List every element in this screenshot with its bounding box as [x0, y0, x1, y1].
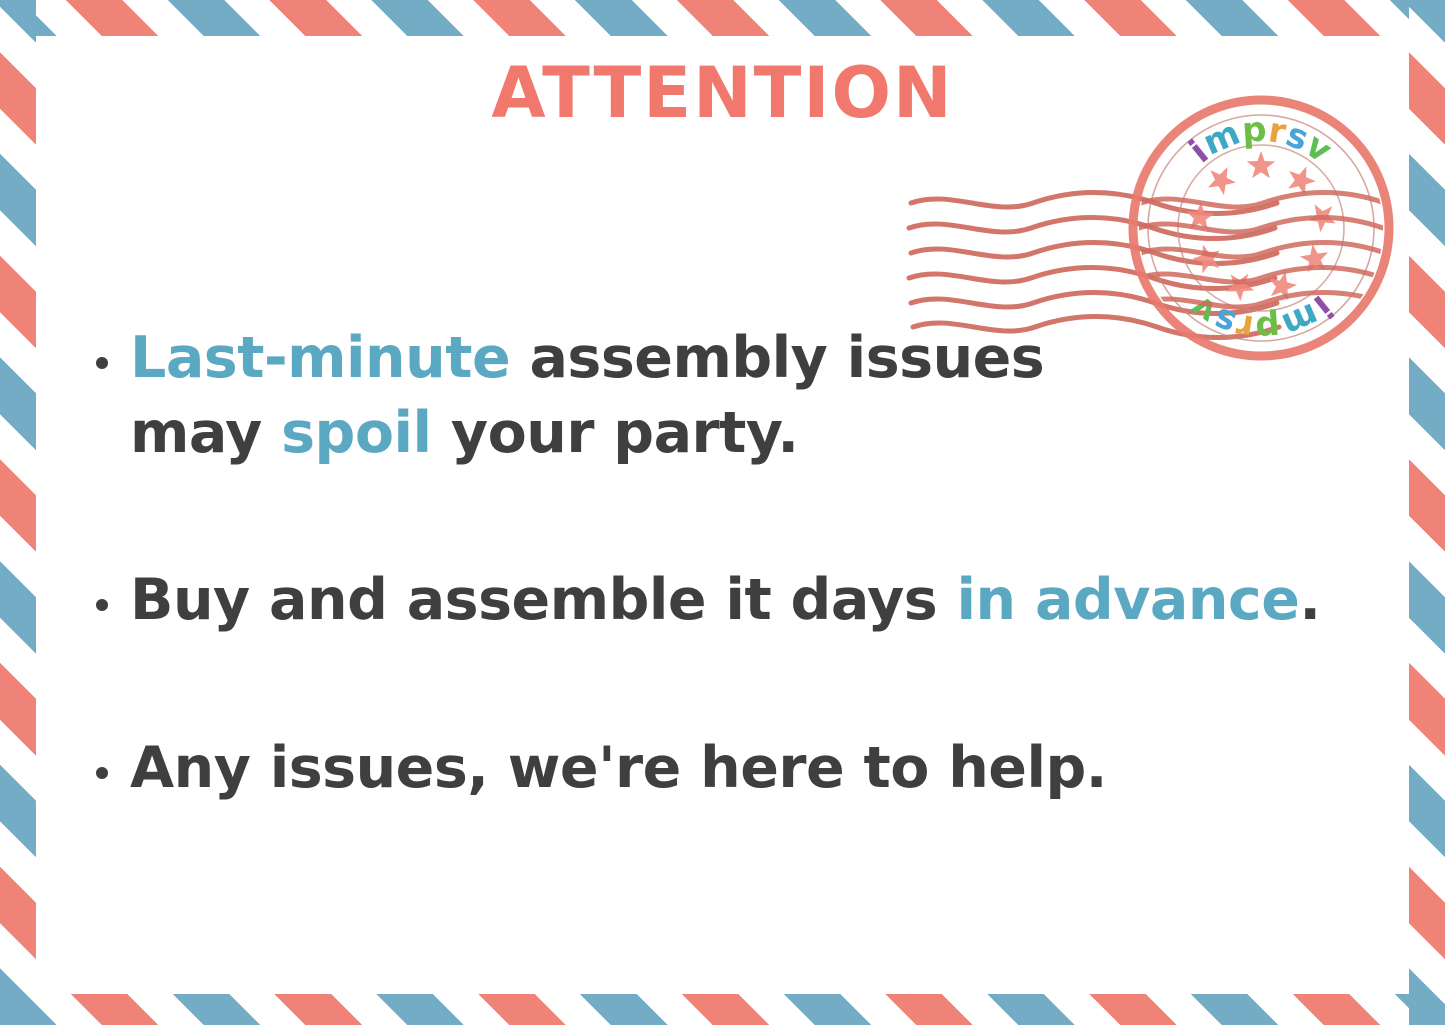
bullet-text: Buy and assemble it days in advance.	[130, 563, 1379, 638]
cancellation-waves-icon	[909, 193, 1279, 338]
bullet-dot-icon	[96, 767, 108, 779]
stamp-rings-icon	[1133, 100, 1389, 356]
bullet-item: Last-minute assembly issuesmay spoil you…	[96, 321, 1379, 471]
page-title: ATTENTION	[36, 58, 1409, 128]
bullet-dot-icon	[96, 599, 108, 611]
airmail-border-left	[0, 0, 36, 1025]
bullet-text-highlight: spoil	[281, 400, 431, 466]
stamp-star-icon	[1269, 272, 1297, 300]
stamp-stars-icon	[1186, 151, 1336, 301]
bullet-item: Buy and assemble it days in advance.	[96, 563, 1379, 638]
stamp-brand-letter: i	[1306, 287, 1340, 325]
bullet-text: Any issues, we're here to help.	[130, 731, 1379, 806]
bullet-line: Buy and assemble it days in advance.	[130, 563, 1379, 638]
bullet-text-highlight: Last-minute	[130, 325, 510, 391]
airmail-border-bottom	[0, 994, 1445, 1025]
airmail-border-right	[1409, 0, 1445, 1025]
card-inner-panel: ATTENTION	[36, 36, 1409, 994]
bullet-text-plain: Buy and assemble it days	[130, 567, 957, 633]
bullet-text-plain: may	[130, 400, 281, 466]
stamp-star-icon	[1247, 151, 1276, 178]
stamp-star-icon	[1192, 245, 1219, 274]
bullet-dot-icon	[96, 357, 108, 369]
bullet-text-plain: assembly issues	[510, 325, 1044, 391]
bullet-line: Last-minute assembly issues	[130, 321, 1379, 396]
bullet-list: Last-minute assembly issuesmay spoil you…	[96, 321, 1379, 806]
stamp-star-icon	[1307, 204, 1335, 232]
bullet-line: Any issues, we're here to help.	[130, 731, 1379, 806]
airmail-border-top	[0, 0, 1445, 36]
stamp-star-icon	[1288, 167, 1316, 196]
bullet-item: Any issues, we're here to help.	[96, 731, 1379, 806]
stamp-brand-letter: i	[1182, 133, 1216, 171]
bullet-text-plain: Any issues, we're here to help.	[130, 735, 1107, 801]
bullet-text-highlight: in advance	[957, 567, 1300, 633]
cancellation-waves-overlay-icon	[1139, 193, 1385, 308]
stamp-star-icon	[1226, 274, 1255, 302]
bullet-line: may spoil your party.	[130, 396, 1379, 471]
bullet-text: Last-minute assembly issuesmay spoil you…	[130, 321, 1379, 471]
stamp-brand-letter: v	[1298, 126, 1339, 171]
bullet-text-plain: your party.	[432, 400, 799, 466]
stamp-star-icon	[1186, 202, 1214, 230]
stamp-star-icon	[1300, 244, 1328, 272]
bullet-text-plain: .	[1299, 567, 1320, 633]
attention-card: ATTENTION	[0, 0, 1445, 1025]
stamp-star-icon	[1208, 167, 1236, 195]
